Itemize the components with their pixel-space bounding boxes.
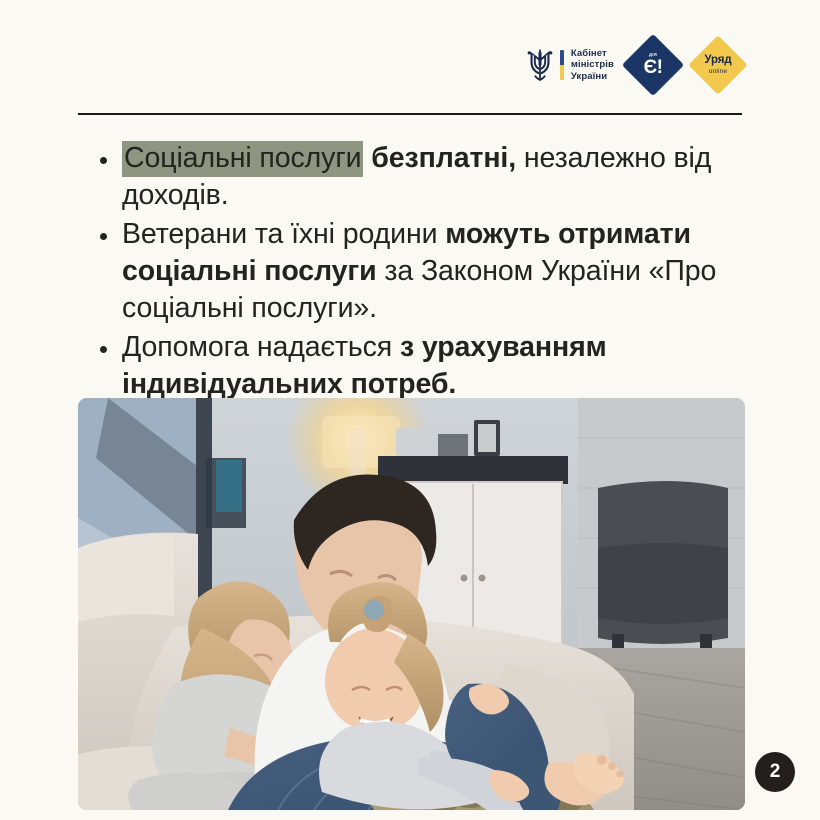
list-item: Допомога надається з урахуванням індивід…: [100, 329, 760, 403]
header-divider: [78, 113, 742, 115]
family-on-sofa-photo: [78, 398, 745, 810]
diia-logo-text: ДІЯ Є!: [644, 53, 663, 77]
page-number-badge: 2: [755, 752, 795, 792]
slide-root: Кабінет міністрів України ДІЯ Є! Уряд on…: [0, 0, 820, 820]
header-logo-bar: Кабінет міністрів України ДІЯ Є! Уряд on…: [527, 38, 744, 92]
cabinet-of-ministers-label: Кабінет міністрів України: [571, 48, 614, 82]
diia-logo: ДІЯ Є!: [627, 39, 679, 91]
uryad-online-logo: Уряд online: [692, 39, 744, 91]
bullet-text-1: Соціальні послуги безплатні, незалежно в…: [122, 140, 760, 214]
list-item: Соціальні послуги безплатні, незалежно в…: [100, 140, 760, 214]
cmu-line-2: міністрів: [571, 59, 614, 70]
bullet-text-2: Ветерани та їхні родини можуть отримати …: [122, 216, 760, 327]
cmu-line-1: Кабінет: [571, 48, 614, 59]
uryad-logo-text: Уряд online: [704, 55, 731, 75]
bullet-dot-icon: [100, 216, 122, 240]
plain-text: Допомога надається: [122, 331, 400, 363]
bullet-dot-icon: [100, 329, 122, 353]
bullet-list: Соціальні послуги безплатні, незалежно в…: [100, 140, 760, 405]
diia-top-label: ДІЯ: [644, 53, 663, 57]
highlighted-text: Соціальні послуги: [122, 141, 363, 177]
diia-main-label: Є!: [644, 58, 663, 77]
bullet-text-3: Допомога надається з урахуванням індивід…: [122, 329, 760, 403]
uryad-main-label: Уряд: [704, 55, 731, 67]
bullet-dot-icon: [100, 140, 122, 164]
flag-bar-divider: [560, 50, 564, 80]
uryad-sub-label: online: [704, 69, 731, 76]
plain-text: Ветерани та їхні родини: [122, 218, 445, 250]
cabinet-of-ministers-logo: Кабінет міністрів України: [527, 48, 614, 82]
list-item: Ветерани та їхні родини можуть отримати …: [100, 216, 760, 327]
bold-text: безплатні,: [371, 142, 516, 174]
cmu-line-3: України: [571, 71, 614, 82]
ukraine-trident-icon: [527, 48, 553, 82]
